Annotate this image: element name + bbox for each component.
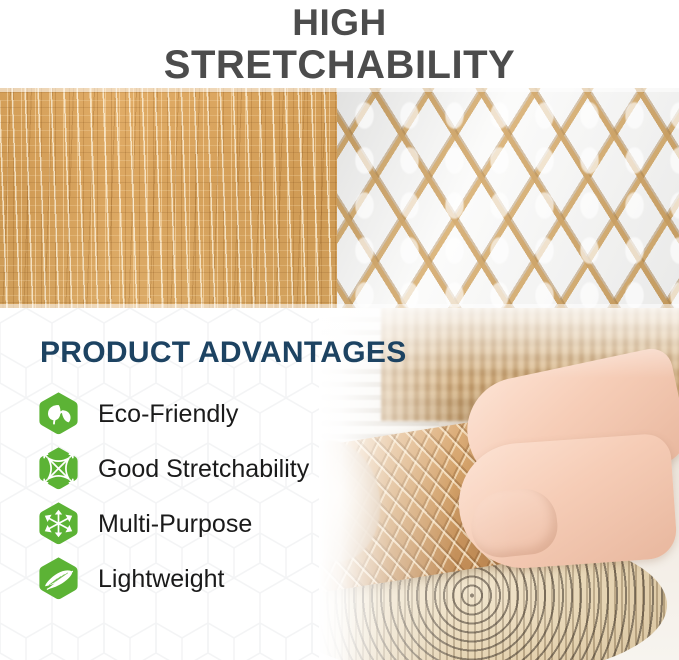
advantages-list: Eco-Friendly	[36, 386, 416, 606]
product-infographic: HIGH STRETCHABILITY	[0, 0, 679, 660]
advantage-label: Lightweight	[98, 565, 224, 593]
kraft-slit-texture	[0, 88, 337, 308]
header-banner: HIGH STRETCHABILITY	[0, 0, 679, 88]
leaf-icon	[36, 391, 81, 436]
comparison-photo-band	[0, 88, 679, 308]
advantages-content: PRODUCT ADVANTAGES Eco-Friendly	[0, 308, 420, 660]
header-title-line-1: HIGH	[292, 2, 387, 43]
stretch-arrows-icon	[36, 446, 81, 491]
unstretched-paper-photo	[0, 88, 337, 308]
advantage-label: Good Stretchability	[98, 455, 309, 483]
lattice-shading	[337, 88, 679, 308]
section-title: PRODUCT ADVANTAGES	[40, 336, 407, 370]
advantage-label: Eco-Friendly	[98, 400, 238, 428]
stretched-mesh-photo	[337, 88, 679, 308]
advantage-label: Multi-Purpose	[98, 510, 252, 538]
band-top-edge	[0, 88, 337, 92]
multi-direction-arrows-icon	[36, 501, 81, 546]
advantage-item-multi-purpose: Multi-Purpose	[36, 496, 416, 551]
advantages-section: PRODUCT ADVANTAGES Eco-Friendly	[0, 308, 679, 660]
feather-icon	[36, 556, 81, 601]
band-top-edge-right	[337, 88, 679, 92]
advantage-item-good-stretchability: Good Stretchability	[36, 441, 416, 496]
advantage-item-eco-friendly: Eco-Friendly	[36, 386, 416, 441]
header-title-line-2: STRETCHABILITY	[164, 43, 515, 87]
advantage-item-lightweight: Lightweight	[36, 551, 416, 606]
